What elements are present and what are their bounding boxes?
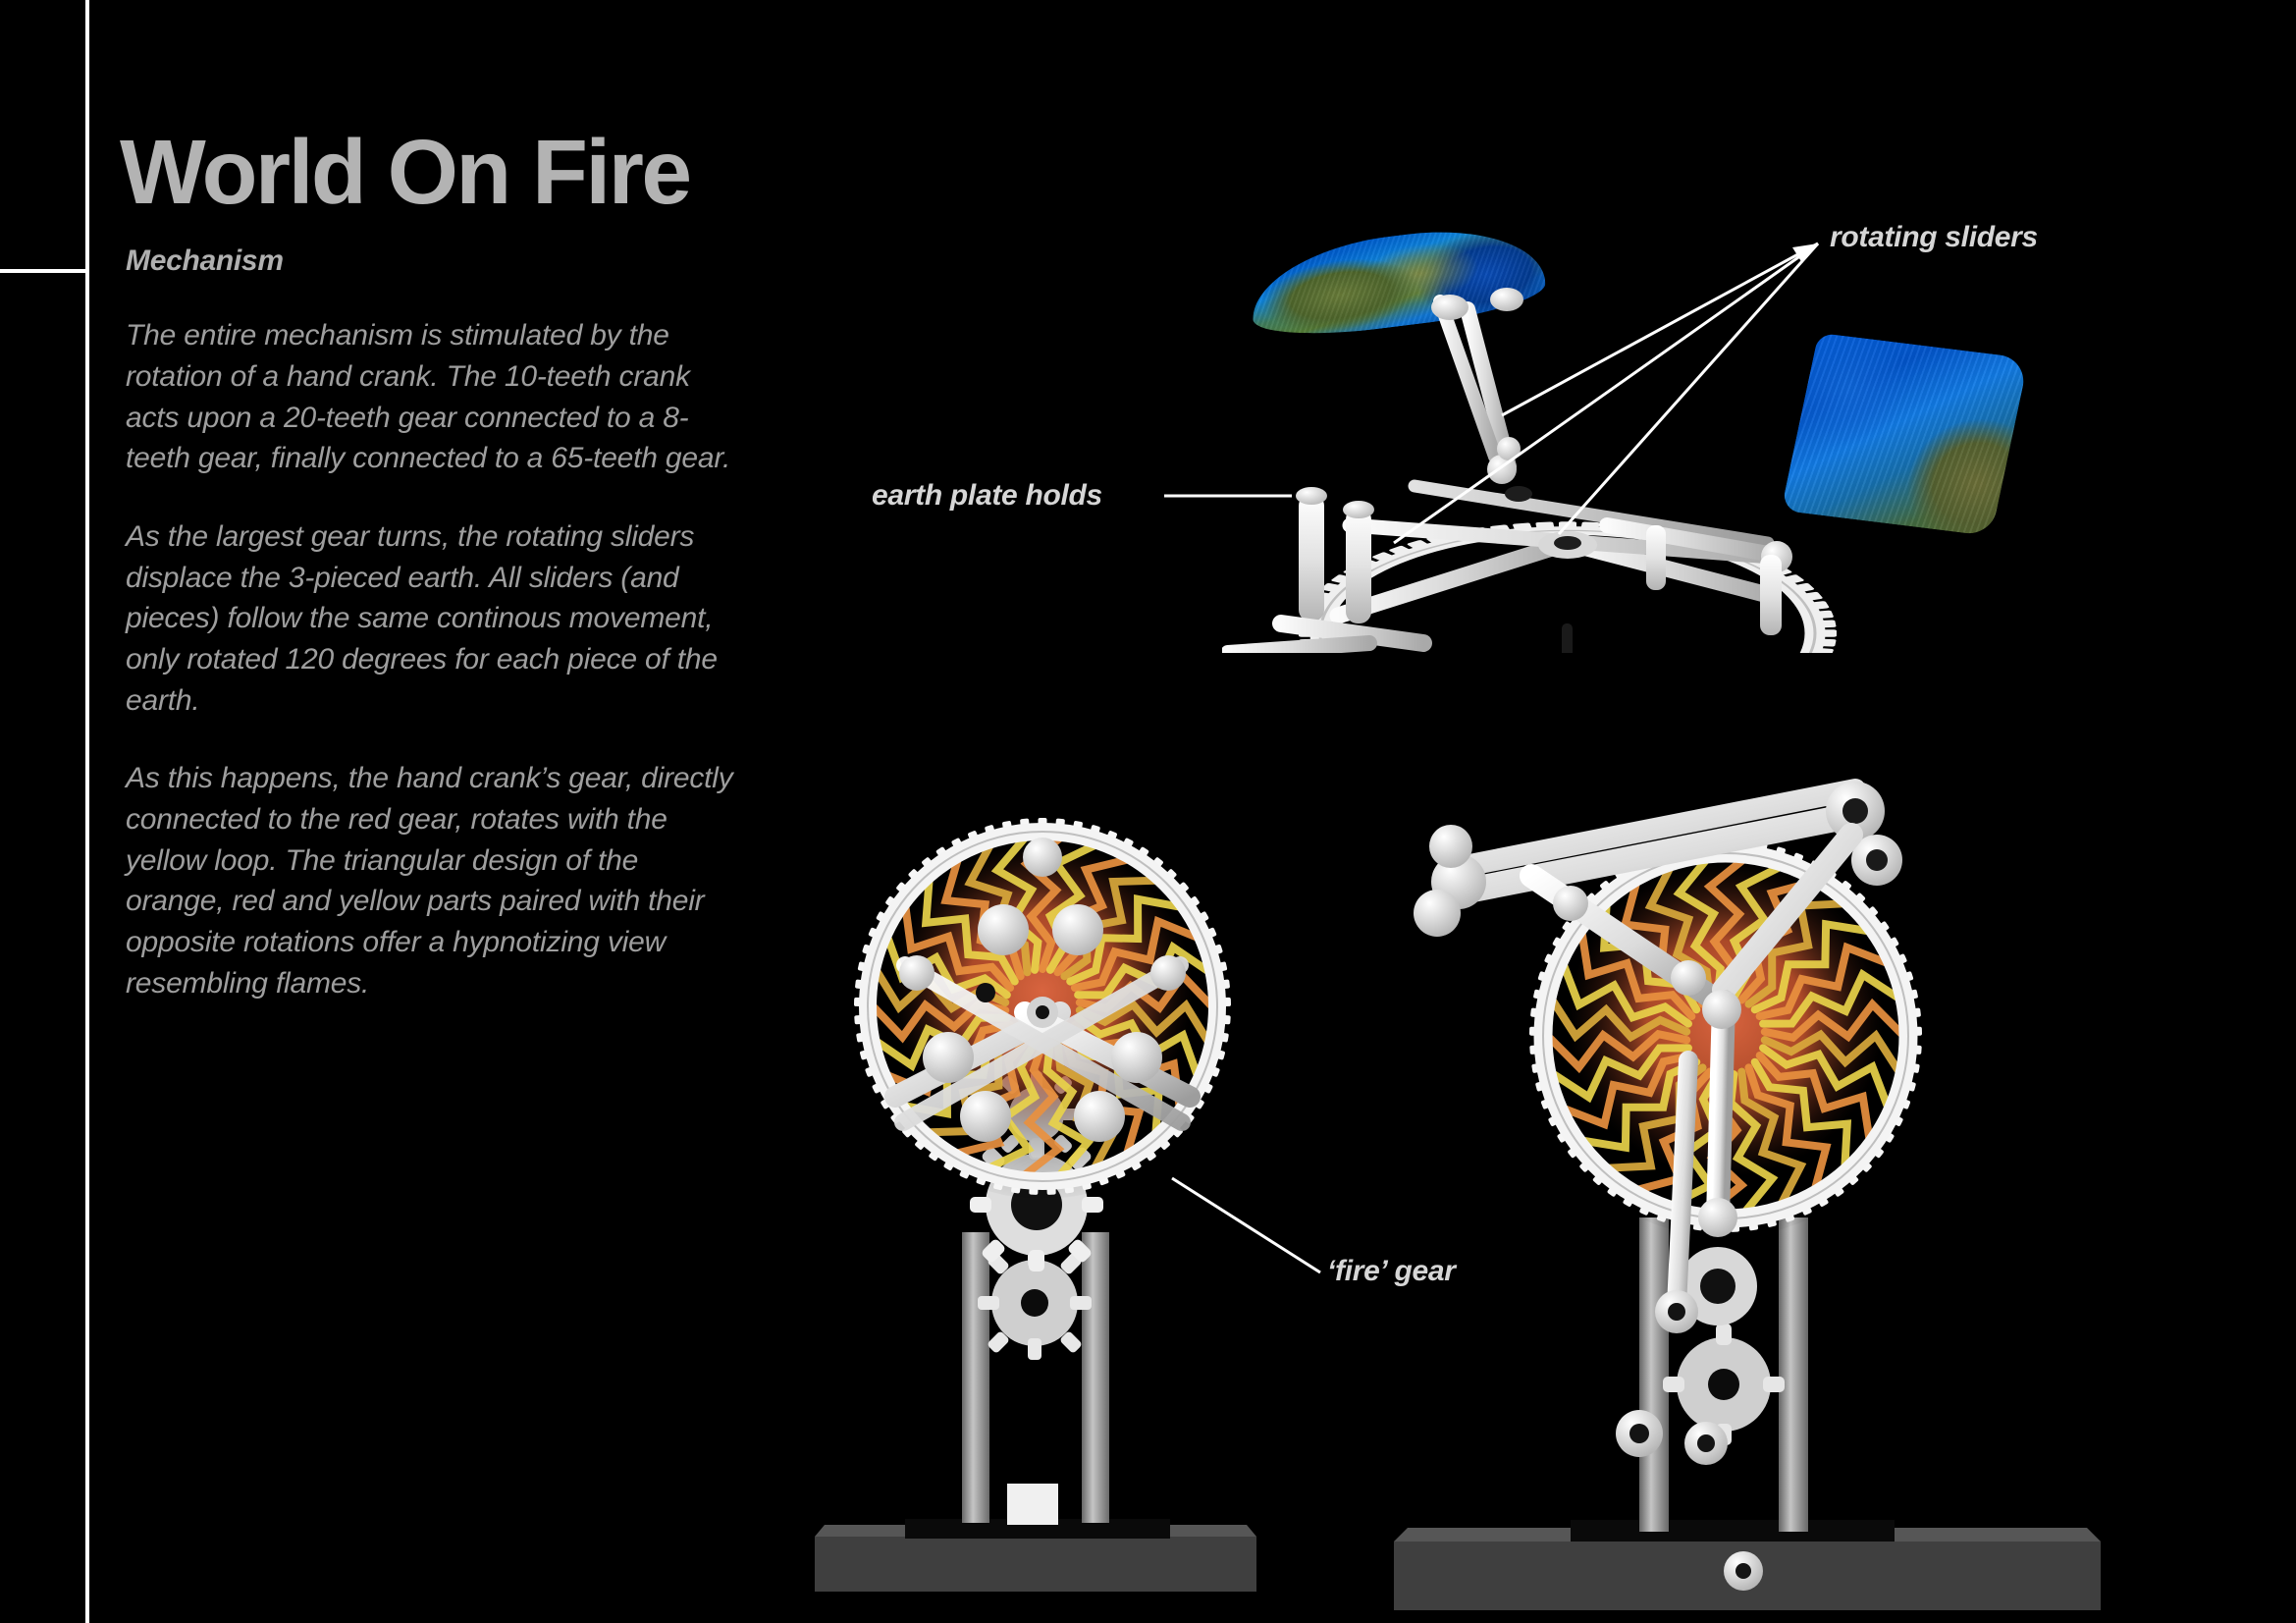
body-paragraph-2: As the largest gear turns, the rotating … (126, 516, 744, 721)
section-subtitle: Mechanism (126, 244, 754, 278)
render-earth-slider-assembly (1222, 231, 2037, 653)
fire-gear-angled-svg (1394, 756, 2277, 1623)
text-column: World On Fire Mechanism The entire mecha… (126, 128, 754, 1003)
horizontal-crop-rule (0, 269, 85, 273)
fire-gear-front-svg (815, 722, 1364, 1623)
annotation-earth-plate-holds: earth plate holds (872, 479, 1102, 513)
poster-canvas: World On Fire Mechanism The entire mecha… (0, 0, 2296, 1623)
render-fire-gear-front (815, 722, 1364, 1623)
render-fire-gear-angled (1394, 756, 2277, 1623)
earth-plate-hold-left (1228, 487, 1423, 653)
vertical-crop-rule (85, 0, 89, 1623)
body-paragraph-1: The entire mechanism is stimulated by th… (126, 315, 744, 479)
body-paragraph-3: As this happens, the hand crank’s gear, … (126, 758, 744, 1003)
annotation-rotating-sliders: rotating sliders (1830, 221, 2038, 254)
annotation-fire-gear: ‘fire’ gear (1327, 1255, 1456, 1288)
plinth-base (815, 1484, 1256, 1592)
page-title: World On Fire (120, 128, 754, 217)
gear-lower-right-1 (1663, 1324, 1785, 1445)
mechanism-svg-top (1222, 231, 2037, 653)
rotating-slider-upper-left (1431, 288, 1523, 484)
fire-gear-assembly (850, 814, 1235, 1199)
